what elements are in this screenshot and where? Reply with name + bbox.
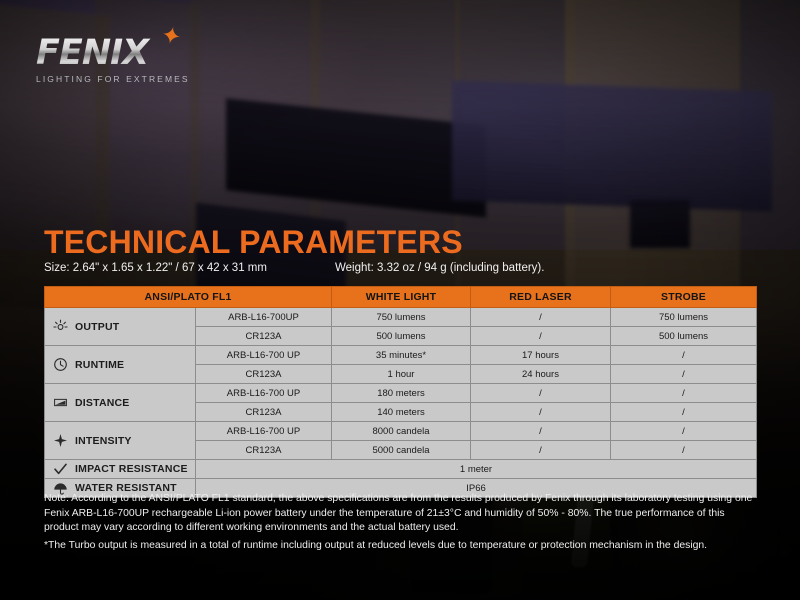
- fenix-logo: ✦ FENIX LIGHTING FOR EXTREMES: [36, 36, 216, 84]
- logo-tagline: LIGHTING FOR EXTREMES: [36, 74, 216, 84]
- intensity-star-icon: [53, 433, 68, 448]
- red-laser-cell: 24 hours: [471, 365, 611, 384]
- row-label-runtime: RUNTIME: [45, 346, 196, 384]
- strobe-cell: /: [611, 403, 757, 422]
- red-laser-cell: /: [471, 308, 611, 327]
- strobe-cell: /: [611, 346, 757, 365]
- battery-cell: CR123A: [196, 403, 332, 422]
- checkmark-icon: [53, 462, 68, 477]
- technical-parameters-table: ANSI/PLATO FL1 WHITE LIGHT RED LASER STR…: [44, 286, 757, 498]
- table-row: DISTANCE ARB-L16-700 UP 180 meters / /: [45, 384, 757, 403]
- header-red-laser: RED LASER: [471, 287, 611, 308]
- white-light-cell: 500 lumens: [332, 327, 471, 346]
- red-laser-cell: /: [471, 422, 611, 441]
- impact-resistance-value: 1 meter: [196, 460, 757, 479]
- red-laser-cell: 17 hours: [471, 346, 611, 365]
- product-spec-page: ✦ FENIX LIGHTING FOR EXTREMES TECHNICAL …: [0, 0, 800, 600]
- battery-cell: CR123A: [196, 327, 332, 346]
- page-title: TECHNICAL PARAMETERS: [44, 224, 463, 261]
- light-burst-icon: [53, 319, 68, 334]
- battery-cell: ARB-L16-700UP: [196, 308, 332, 327]
- red-laser-cell: /: [471, 327, 611, 346]
- row-label-impact-resistance: IMPACT RESISTANCE: [45, 460, 196, 479]
- table-header-row: ANSI/PLATO FL1 WHITE LIGHT RED LASER STR…: [45, 287, 757, 308]
- strobe-cell: 500 lumens: [611, 327, 757, 346]
- white-light-cell: 35 minutes*: [332, 346, 471, 365]
- weight-text: Weight: 3.32 oz / 94 g (including batter…: [335, 262, 544, 274]
- standard-note: Note: According to the ANSI/PLATO FL1 st…: [44, 492, 758, 536]
- row-label-output: OUTPUT: [45, 308, 196, 346]
- strobe-cell: 750 lumens: [611, 308, 757, 327]
- size-text: Size: 2.64" x 1.65 x 1.22" / 67 x 42 x 3…: [44, 262, 335, 274]
- strobe-cell: /: [611, 384, 757, 403]
- table-row: OUTPUT ARB-L16-700UP 750 lumens / 750 lu…: [45, 308, 757, 327]
- battery-cell: ARB-L16-700 UP: [196, 422, 332, 441]
- table-row: INTENSITY ARB-L16-700 UP 8000 candela / …: [45, 422, 757, 441]
- white-light-cell: 750 lumens: [332, 308, 471, 327]
- white-light-cell: 5000 candela: [332, 441, 471, 460]
- red-laser-cell: /: [471, 403, 611, 422]
- row-label-text: DISTANCE: [75, 397, 130, 409]
- header-white-light: WHITE LIGHT: [332, 287, 471, 308]
- header-strobe: STROBE: [611, 287, 757, 308]
- strobe-cell: /: [611, 365, 757, 384]
- footnotes: Note: According to the ANSI/PLATO FL1 st…: [44, 492, 758, 553]
- white-light-cell: 140 meters: [332, 403, 471, 422]
- battery-cell: ARB-L16-700 UP: [196, 346, 332, 365]
- battery-cell: CR123A: [196, 441, 332, 460]
- clock-icon: [53, 357, 68, 372]
- header-ansi-plato: ANSI/PLATO FL1: [45, 287, 332, 308]
- logo-wordmark: FENIX: [36, 36, 216, 71]
- red-laser-cell: /: [471, 384, 611, 403]
- red-laser-cell: /: [471, 441, 611, 460]
- beam-distance-icon: [53, 395, 68, 410]
- battery-cell: ARB-L16-700 UP: [196, 384, 332, 403]
- turbo-note: *The Turbo output is measured in a total…: [44, 539, 758, 554]
- row-label-distance: DISTANCE: [45, 384, 196, 422]
- white-light-cell: 1 hour: [332, 365, 471, 384]
- white-light-cell: 8000 candela: [332, 422, 471, 441]
- row-label-text: RUNTIME: [75, 359, 124, 371]
- strobe-cell: /: [611, 441, 757, 460]
- row-label-text: INTENSITY: [75, 435, 132, 447]
- row-label-text: OUTPUT: [75, 321, 119, 333]
- white-light-cell: 180 meters: [332, 384, 471, 403]
- row-label-text: IMPACT RESISTANCE: [75, 463, 188, 475]
- battery-cell: CR123A: [196, 365, 332, 384]
- dimension-line: Size: 2.64" x 1.65 x 1.22" / 67 x 42 x 3…: [44, 262, 756, 274]
- table-row: RUNTIME ARB-L16-700 UP 35 minutes* 17 ho…: [45, 346, 757, 365]
- row-label-intensity: INTENSITY: [45, 422, 196, 460]
- table-row: IMPACT RESISTANCE 1 meter: [45, 460, 757, 479]
- strobe-cell: /: [611, 422, 757, 441]
